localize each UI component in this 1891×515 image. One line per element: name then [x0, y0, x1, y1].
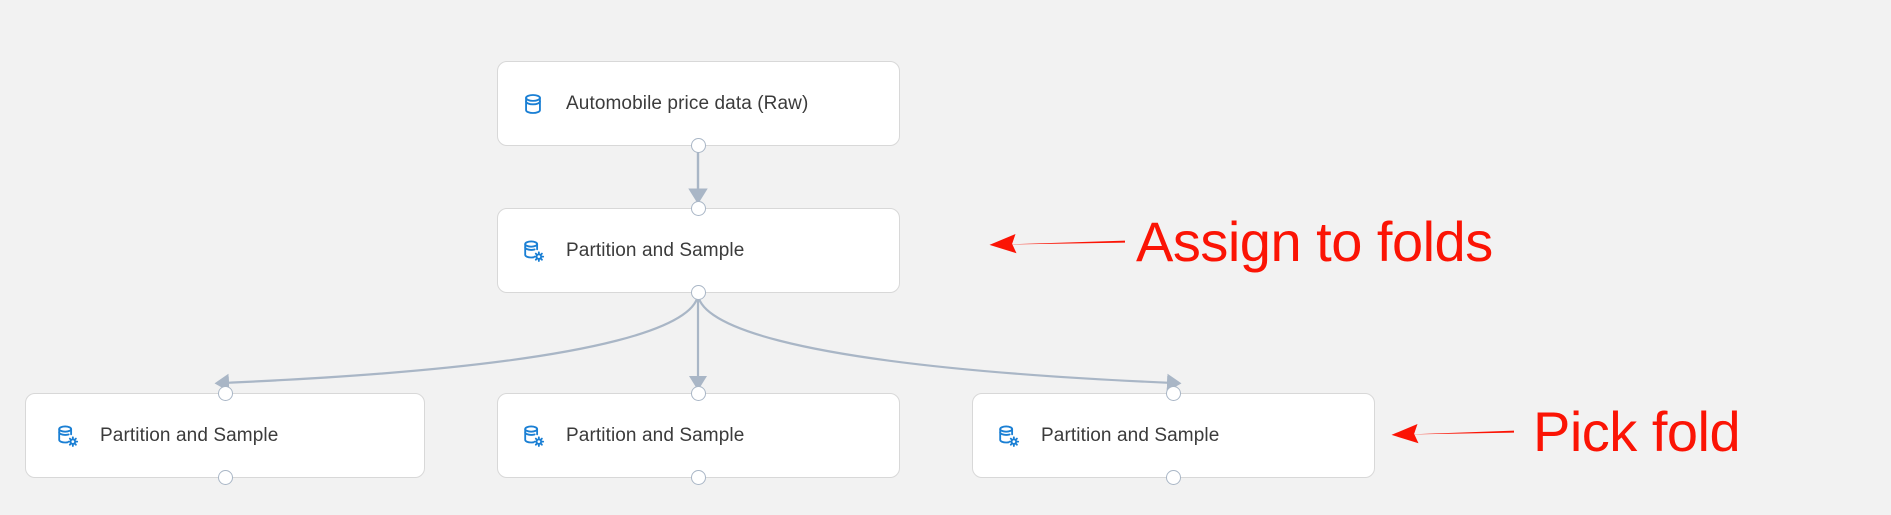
node-partition-and-sample-fold-1[interactable]: Partition and Sample	[25, 393, 425, 478]
annotation-pick-fold: Pick fold	[1390, 404, 1740, 460]
input-port[interactable]	[218, 386, 233, 401]
input-port[interactable]	[1166, 386, 1181, 401]
annotation-label: Pick fold	[1533, 404, 1740, 460]
database-gear-icon	[54, 423, 80, 449]
annotation-assign-to-folds: Assign to folds	[988, 214, 1493, 270]
node-partition-and-sample-fold-3[interactable]: Partition and Sample	[972, 393, 1375, 478]
database-gear-icon	[520, 238, 546, 264]
node-dataset-automobile-price-raw[interactable]: Automobile price data (Raw)	[497, 61, 900, 146]
output-port[interactable]	[691, 285, 706, 300]
annotation-label: Assign to folds	[1136, 214, 1493, 270]
output-port[interactable]	[1166, 470, 1181, 485]
left-arrow-icon	[1390, 415, 1515, 449]
input-port[interactable]	[691, 386, 706, 401]
node-label: Partition and Sample	[566, 241, 744, 260]
database-cylinder-icon	[520, 91, 546, 117]
output-port[interactable]	[218, 470, 233, 485]
node-label: Partition and Sample	[1041, 426, 1219, 445]
output-port[interactable]	[691, 138, 706, 153]
database-gear-icon	[520, 423, 546, 449]
node-label: Partition and Sample	[566, 426, 744, 445]
node-partition-and-sample-parent[interactable]: Partition and Sample	[497, 208, 900, 293]
node-partition-and-sample-fold-2[interactable]: Partition and Sample	[497, 393, 900, 478]
pipeline-canvas[interactable]: Automobile price data (Raw) Partition an…	[0, 0, 1891, 515]
edge-partition-parent-to-fold-3	[698, 293, 1174, 383]
output-port[interactable]	[691, 470, 706, 485]
input-port[interactable]	[691, 201, 706, 216]
node-label: Partition and Sample	[100, 426, 278, 445]
left-arrow-icon	[988, 225, 1126, 259]
database-gear-icon	[995, 423, 1021, 449]
node-label: Automobile price data (Raw)	[566, 94, 808, 113]
edge-partition-parent-to-fold-1	[222, 293, 698, 383]
